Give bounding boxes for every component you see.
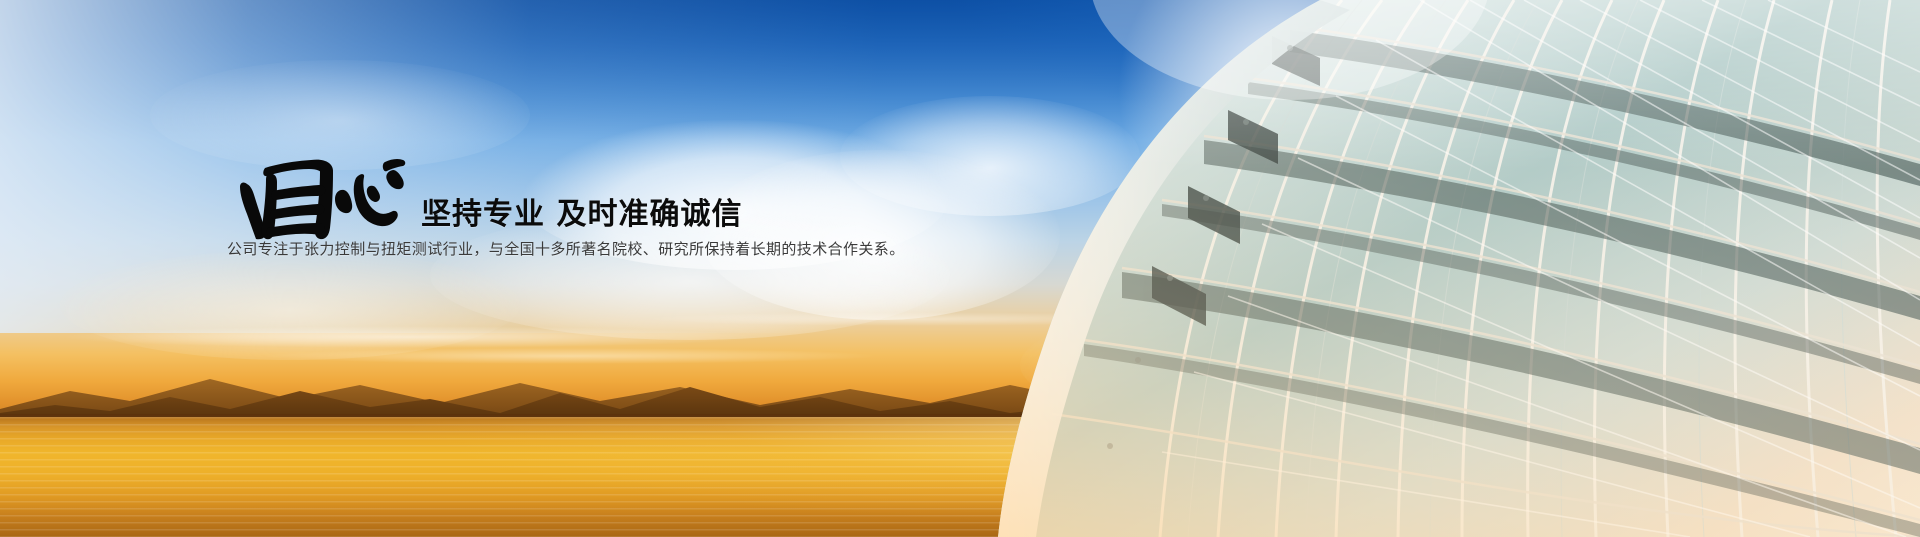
banner-description: 公司专注于张力控制与扭矩测试行业，与全国十多所著名院校、研究所保持着长期的技术合… [227, 238, 905, 259]
banner-slogan: 坚持专业 及时准确诚信 [421, 200, 742, 230]
banner-copy: 坚持专业 及时准确诚信 公司专注于张力控制与扭矩测试行业，与全国十多所著名院校、… [0, 0, 1000, 537]
headline-row: 坚持专业 及时准确诚信 [225, 148, 742, 240]
calligraphy-yongxin [225, 148, 407, 240]
hero-banner: 坚持专业 及时准确诚信 公司专注于张力控制与扭矩测试行业，与全国十多所著名院校、… [0, 0, 1920, 537]
